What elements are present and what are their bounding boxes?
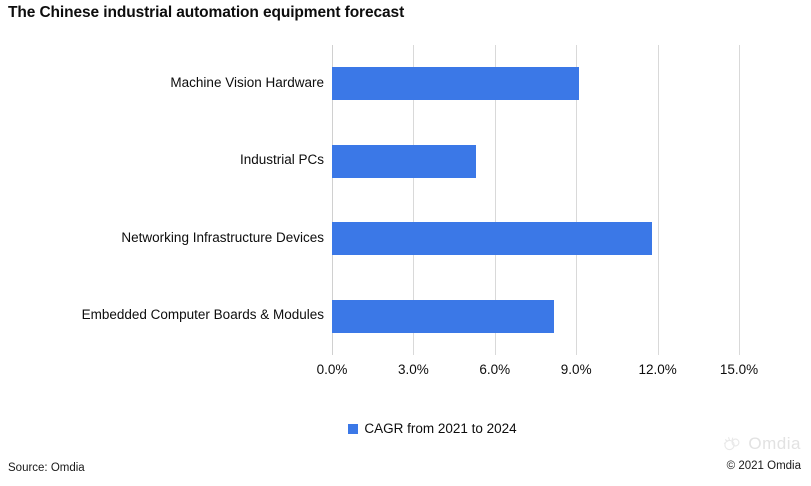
legend-entry-label: CAGR from 2021 to 2024: [364, 421, 516, 436]
bar-industrial-pcs[interactable]: [332, 145, 476, 178]
x-tick-label: 3.0%: [398, 362, 429, 377]
category-label: Machine Vision Hardware: [4, 75, 324, 90]
y-axis-category-labels: Machine Vision HardwareIndustrial PCsNet…: [0, 45, 324, 355]
bar-row: [332, 278, 739, 356]
x-tick-label: 15.0%: [720, 362, 758, 377]
page-title: The Chinese industrial automation equipm…: [8, 4, 404, 22]
bar-row: [332, 123, 739, 201]
x-axis-tick-labels: 0.0%3.0%6.0%9.0%12.0%15.0%: [332, 362, 739, 382]
omdia-cloud-icon: [722, 434, 744, 452]
omdia-watermark: Omdia: [722, 434, 801, 452]
x-tick-label: 6.0%: [479, 362, 510, 377]
category-label: Networking Infrastructure Devices: [4, 230, 324, 245]
legend-entry[interactable]: CAGR from 2021 to 2024: [348, 421, 516, 436]
plot-area: [332, 45, 739, 355]
x-tick-label: 9.0%: [561, 362, 592, 377]
x-tick-label: 12.0%: [638, 362, 676, 377]
copyright-notice: © 2021 Omdia: [727, 460, 801, 472]
chart-legend: CAGR from 2021 to 2024: [0, 421, 811, 436]
bar-row: [332, 200, 739, 278]
bar-machine-vision-hardware[interactable]: [332, 67, 579, 100]
bar-row: [332, 45, 739, 123]
bar-embedded-computer-boards-modules[interactable]: [332, 300, 554, 333]
x-tick-label: 0.0%: [317, 362, 348, 377]
category-label: Industrial PCs: [4, 152, 324, 167]
omdia-wordmark: Omdia: [748, 435, 801, 452]
bar-networking-infrastructure-devices[interactable]: [332, 222, 652, 255]
source-note: Source: Omdia: [8, 462, 85, 474]
legend-color-swatch: [348, 424, 358, 434]
category-label: Embedded Computer Boards & Modules: [4, 307, 324, 322]
gridline: [739, 45, 740, 355]
